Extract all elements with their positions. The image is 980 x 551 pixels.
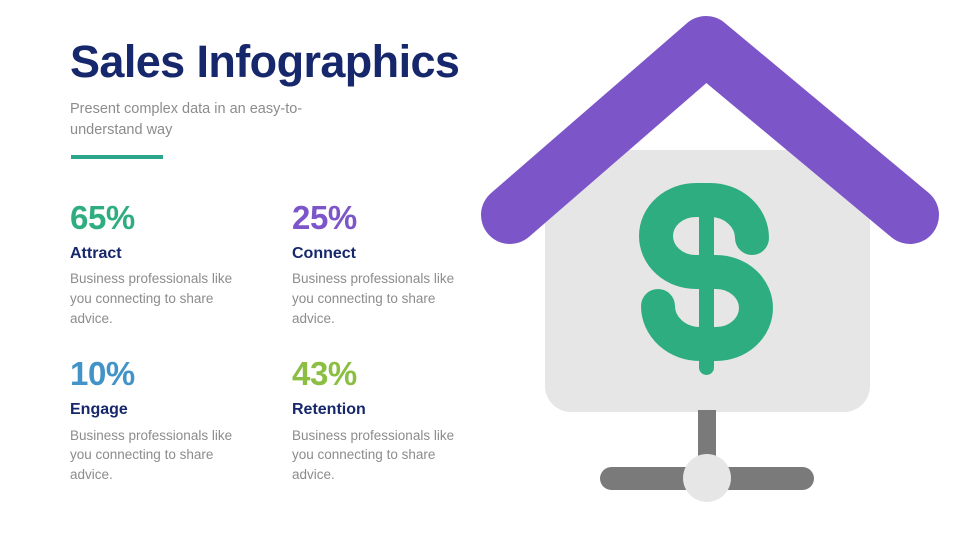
stat-value: 65% [70,200,260,236]
stat-description: Business professionals like you connecti… [292,426,457,485]
content-panel: Sales Infographics Present complex data … [0,0,500,551]
stat-label: Retention [292,400,482,419]
stat-value: 25% [292,200,482,236]
stat-description: Business professionals like you connecti… [292,269,457,328]
page-subtitle: Present complex data in an easy-to-under… [70,99,330,140]
stat-description: Business professionals like you connecti… [70,269,235,328]
stat-block-connect: 25% Connect Business professionals like … [292,200,482,328]
stat-label: Engage [70,400,260,419]
stat-block-retention: 43% Retention Business professionals lik… [292,356,482,484]
dollar-sign-icon [656,185,756,375]
stat-value: 43% [292,356,482,392]
stat-block-attract: 65% Attract Business professionals like … [70,200,260,328]
stand-knob-shape [683,454,731,502]
title-accent-rule [71,155,163,159]
stat-label: Attract [70,244,260,263]
stat-description: Business professionals like you connecti… [70,426,235,485]
stats-grid: 65% Attract Business professionals like … [70,200,490,484]
stat-label: Connect [292,244,482,263]
stat-value: 10% [70,356,260,392]
page-title: Sales Infographics [70,38,459,87]
slide-canvas: Sales Infographics Present complex data … [0,0,980,551]
stat-block-engage: 10% Engage Business professionals like y… [70,356,260,484]
house-illustration [480,0,980,551]
